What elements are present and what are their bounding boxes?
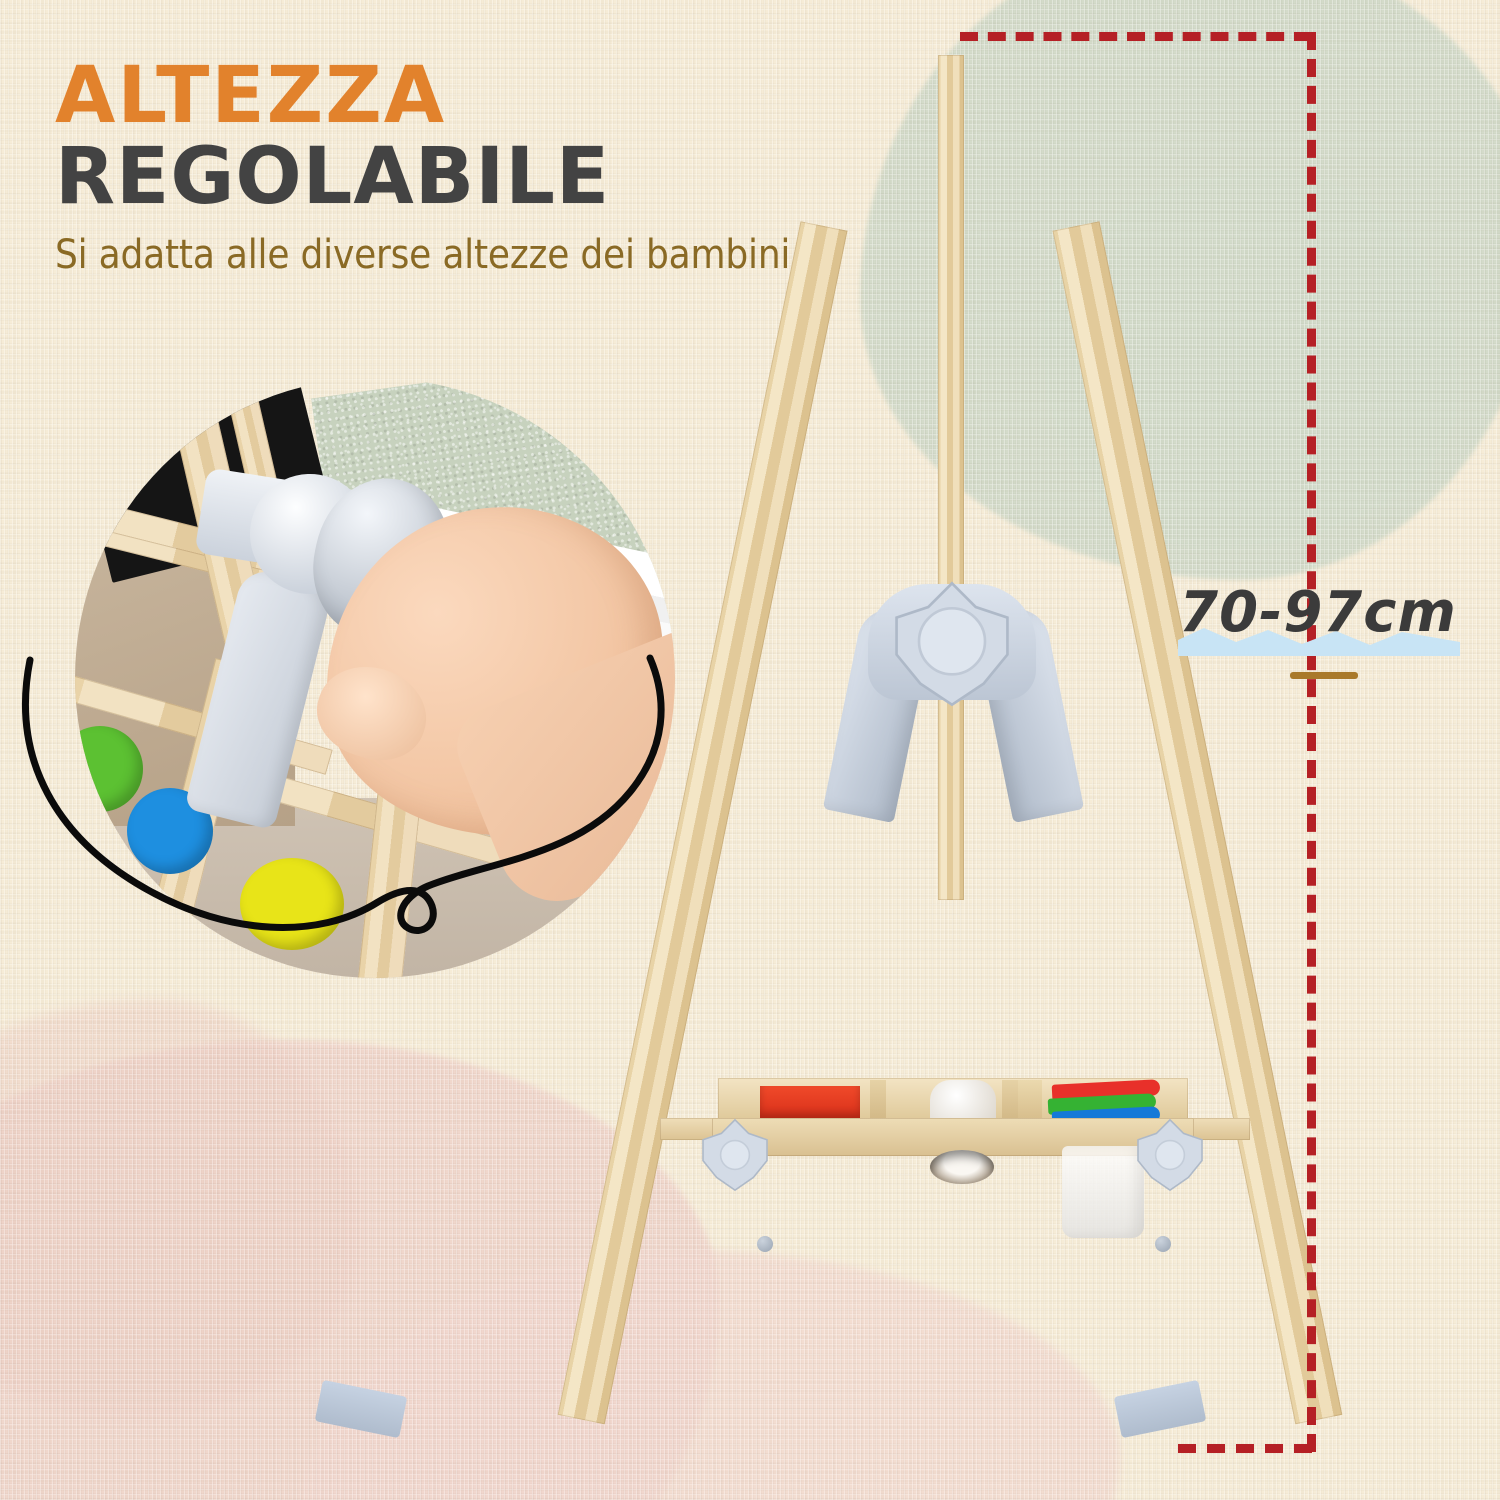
easel-center-post xyxy=(938,55,964,900)
tray-pen-holder xyxy=(1018,1080,1042,1122)
leg-screw-right xyxy=(1155,1236,1171,1252)
measure-dash-right xyxy=(1307,32,1316,1452)
easel-foot-left xyxy=(315,1380,408,1438)
star-knob-top-icon[interactable] xyxy=(886,578,1018,710)
infographic-canvas: ALTEZZA REGOLABILE Si adatta alle divers… xyxy=(0,0,1500,1500)
tray-divider-2 xyxy=(1002,1080,1018,1120)
paper-roll-core xyxy=(930,1150,994,1184)
easel-leg-right xyxy=(1052,221,1342,1424)
closeup-photo-inset xyxy=(75,378,675,978)
leg-screw-left xyxy=(757,1236,773,1252)
star-knob-right-icon[interactable] xyxy=(1130,1115,1210,1195)
tray-divider-1 xyxy=(870,1080,886,1120)
photo-cap-yellow xyxy=(240,858,344,950)
measurement-label: 70-97cm xyxy=(1168,580,1468,645)
subtitle: Si adatta alle diverse altezze dei bambi… xyxy=(55,232,790,278)
measurement-tick xyxy=(1290,672,1358,679)
measure-dash-top xyxy=(960,32,1312,41)
tray-eraser-red xyxy=(760,1086,860,1118)
background-wash-pink-3 xyxy=(0,1000,360,1420)
star-knob-left-icon[interactable] xyxy=(695,1115,775,1195)
measurement-callout: 70-97cm xyxy=(1168,580,1468,645)
headline-secondary: REGOLABILE xyxy=(55,134,790,221)
headline-primary: ALTEZZA xyxy=(55,58,790,134)
heading-block: ALTEZZA REGOLABILE Si adatta alle divers… xyxy=(55,58,790,278)
measure-dash-bottom xyxy=(1178,1444,1312,1453)
